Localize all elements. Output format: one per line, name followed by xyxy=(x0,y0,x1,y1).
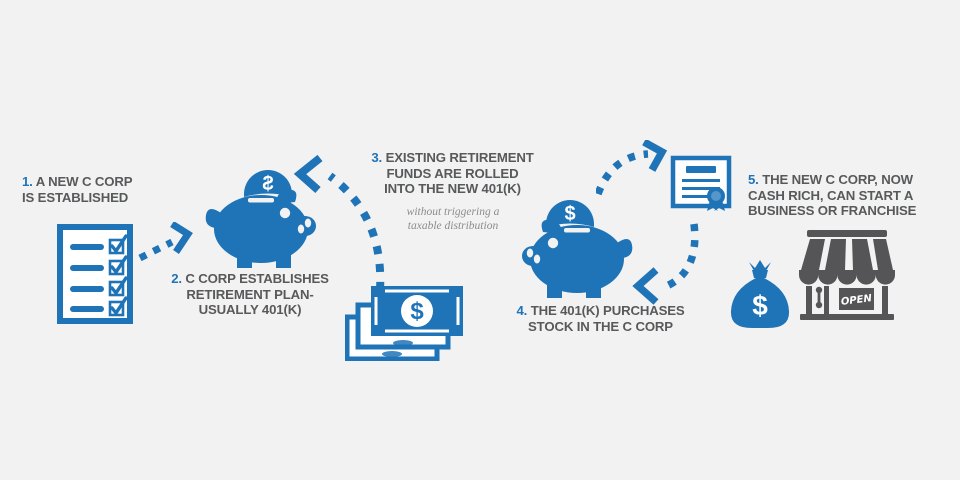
arrow-cash-to-piggy xyxy=(288,152,398,297)
stock-certificate-icon xyxy=(670,155,732,220)
step-5-label: THE NEW C CORP, NOW CASH RICH, CAN START… xyxy=(748,172,916,218)
step-3-label: EXISTING RETIREMENT FUNDS ARE ROLLED INT… xyxy=(384,150,534,196)
money-bag-icon: $ xyxy=(728,258,792,335)
step-3-subtitle: without triggering a taxable distributio… xyxy=(383,206,523,233)
svg-text:$: $ xyxy=(262,173,273,195)
checklist-icon xyxy=(57,224,133,329)
step-5-caption: 5. THE NEW C CORP, NOW CASH RICH, CAN ST… xyxy=(748,172,948,219)
arrow-checklist-to-piggy xyxy=(138,222,200,273)
infographic-canvas: 1. A NEW C CORP IS ESTABLISHED 2. C CORP… xyxy=(0,0,960,480)
step-4-number: 4. xyxy=(516,303,527,318)
svg-text:$: $ xyxy=(410,298,424,325)
step-5-number: 5. xyxy=(748,172,759,187)
svg-text:$: $ xyxy=(564,203,575,225)
step-2-number: 2. xyxy=(171,271,182,286)
step-1-label: A NEW C CORP IS ESTABLISHED xyxy=(22,174,132,205)
storefront-icon: OPEN xyxy=(798,228,896,325)
svg-text:$: $ xyxy=(752,290,768,321)
arrow-certificate-to-piggy xyxy=(620,222,702,319)
step-1-caption: 1. A NEW C CORP IS ESTABLISHED xyxy=(22,174,132,205)
step-1-number: 1. xyxy=(22,174,33,189)
arrow-piggy-to-certificate xyxy=(596,140,676,205)
